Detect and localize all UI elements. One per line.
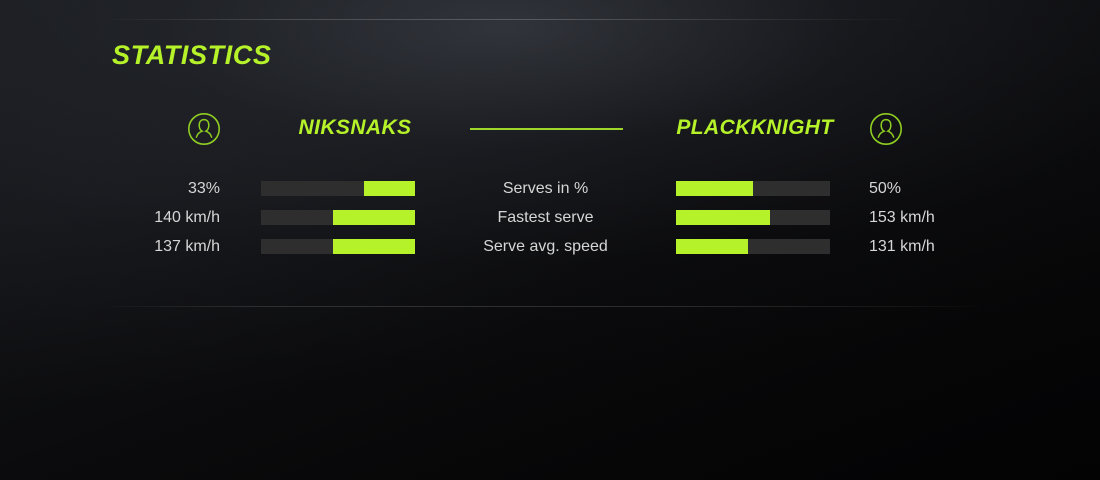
players-header-row: NIKSNAKS PLACKKNIGHT [0,112,1100,148]
stat-value-right: 50% [869,176,1029,201]
top-divider [112,19,902,20]
stat-bar-fill-left [333,210,415,225]
player-name-right: PLACKKNIGHT [640,116,870,140]
stat-row: 140 km/h Fastest serve 153 km/h [0,205,1100,234]
stat-bar-left [261,239,415,254]
stat-bar-left [261,181,415,196]
stat-bar-fill-right [676,181,753,196]
stat-bar-left [261,210,415,225]
stat-bar-right [676,239,830,254]
stat-bar-right [676,210,830,225]
stat-label: Serve avg. speed [440,234,651,259]
stat-value-left: 33% [80,176,220,201]
stat-bar-fill-left [333,239,415,254]
stat-bar-fill-right [676,239,748,254]
stat-value-right: 153 km/h [869,205,1029,230]
person-avatar-icon [187,112,221,146]
stat-bar-fill-right [676,210,770,225]
stat-value-left: 137 km/h [80,234,220,259]
stat-label: Serves in % [440,176,651,201]
stat-bar-fill-left [364,181,415,196]
stats-table: 33% Serves in % 50% 140 km/h Fastest ser… [0,176,1100,263]
player-name-left: NIKSNAKS [240,116,470,140]
page-title: STATISTICS [112,40,272,71]
statistics-panel: STATISTICS NIKSNAKS PLACKKNIGHT 33% [0,0,1100,480]
stat-row: 137 km/h Serve avg. speed 131 km/h [0,234,1100,263]
stat-value-left: 140 km/h [80,205,220,230]
stat-bar-right [676,181,830,196]
stat-row: 33% Serves in % 50% [0,176,1100,205]
person-avatar-icon [869,112,903,146]
stat-value-right: 131 km/h [869,234,1029,259]
stat-label: Fastest serve [440,205,651,230]
header-separator-line [470,128,623,130]
bottom-divider [112,306,978,307]
